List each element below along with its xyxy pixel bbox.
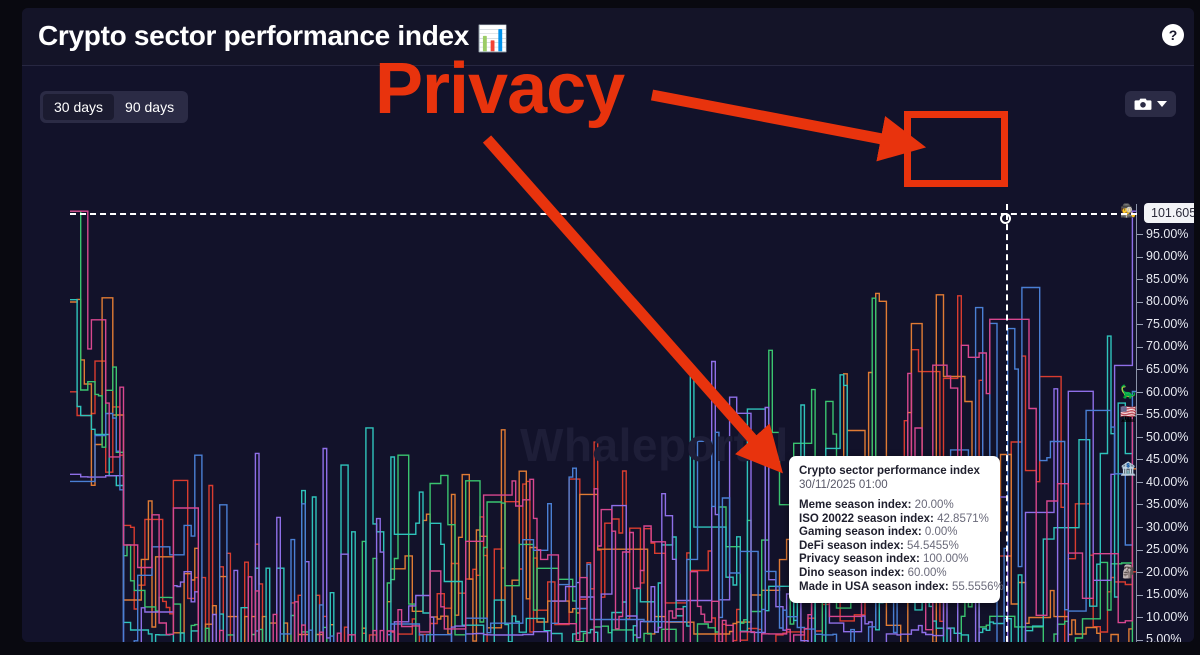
y-axis-tick-mark <box>1137 369 1143 370</box>
y-axis-tick-mark <box>1137 459 1143 460</box>
y-axis-tick-text: 60.00% <box>1146 385 1188 399</box>
tooltip-row-value: 0.00% <box>922 526 958 538</box>
tooltip-row-label: DeFi season index: <box>799 540 904 552</box>
range-toggle-group: 30 days 90 days <box>40 91 188 123</box>
y-axis-tick-text: 75.00% <box>1146 317 1188 331</box>
series-end-marker: 🗿 <box>1120 565 1136 578</box>
y-axis-tick-text: 40.00% <box>1146 475 1188 489</box>
y-axis-tick-mark <box>1137 527 1143 528</box>
series-end-marker: 🇺🇸 <box>1120 405 1136 418</box>
y-axis-tick-text: 50.00% <box>1146 430 1188 444</box>
tooltip-row-label: Dino season index: <box>799 567 904 579</box>
tooltip-row-label: ISO 20022 season index: <box>799 513 934 525</box>
chart-body: 30 days 90 days Whaleportal <box>22 66 1194 642</box>
y-axis-tick-text: 70.00% <box>1146 339 1188 353</box>
y-axis-tick-mark <box>1137 437 1143 438</box>
y-axis-tick-label: 90.00% <box>1137 250 1188 262</box>
tooltip-row: Made in USA season index: 55.5556% <box>799 581 990 595</box>
screenshot-root: Crypto sector performance index📊 ? 30 da… <box>0 0 1200 655</box>
tooltip-row-value: 20.00% <box>911 499 953 511</box>
y-axis-tick-label: 65.00% <box>1137 363 1188 375</box>
tooltip-row-value: 42.8571% <box>934 513 989 525</box>
y-axis-tick-label: 95.00% <box>1137 228 1188 240</box>
y-axis-tick-text: 55.00% <box>1146 407 1188 421</box>
y-axis-tick-mark <box>1137 234 1143 235</box>
tooltip-row-value: 55.5556% <box>949 581 1004 593</box>
y-axis-tick-text: 90.00% <box>1146 249 1188 263</box>
series-end-marker: 🦕 <box>1120 385 1136 398</box>
y-axis-tick-mark <box>1137 482 1143 483</box>
y-axis-tick-label: 35.00% <box>1137 498 1188 510</box>
tooltip-date: 30/11/2025 01:00 <box>799 478 990 492</box>
annotation-highlight-box <box>904 111 1008 187</box>
series-end-marker: 🕵 <box>1120 204 1136 217</box>
y-axis-tick-text: 25.00% <box>1146 542 1188 556</box>
tooltip-rows: Meme season index: 20.00%ISO 20022 seaso… <box>799 499 990 594</box>
y-axis-tick-mark <box>1137 595 1143 596</box>
y-axis-tick-label: 80.00% <box>1137 295 1188 307</box>
y-axis-tick-label: 20.00% <box>1137 566 1188 578</box>
tooltip-row: Meme season index: 20.00% <box>799 499 990 513</box>
y-axis-tick-mark <box>1137 257 1143 258</box>
tooltip-row-label: Meme season index: <box>799 499 911 511</box>
export-menu-button[interactable] <box>1125 91 1176 117</box>
y-axis-tick-text: 95.00% <box>1146 227 1188 241</box>
tooltip-row: Gaming season index: 0.00% <box>799 526 990 540</box>
y-axis-tick-label: 50.00% <box>1137 431 1188 443</box>
tooltip-row-label: Made in USA season index: <box>799 581 949 593</box>
tooltip-row: Dino season index: 60.00% <box>799 567 990 581</box>
y-axis-tick-text: 10.00% <box>1146 610 1188 624</box>
range-button-30-days[interactable]: 30 days <box>43 94 114 120</box>
y-axis-tick-label: 70.00% <box>1137 340 1188 352</box>
y-axis-tick-mark <box>1137 617 1143 618</box>
y-axis-tick-text: 20.00% <box>1146 565 1188 579</box>
y-axis-tick-mark <box>1137 302 1143 303</box>
y-axis-tick-text: 85.00% <box>1146 272 1188 286</box>
y-axis-tick-label: 25.00% <box>1137 543 1188 555</box>
y-axis-tick-label: 75.00% <box>1137 318 1188 330</box>
y-axis-tick-text: 80.00% <box>1146 294 1188 308</box>
tooltip-row: ISO 20022 season index: 42.8571% <box>799 513 990 527</box>
y-axis-tick-mark <box>1137 347 1143 348</box>
y-axis-tick-text: 5.00% <box>1146 632 1181 642</box>
page-title-text: Crypto sector performance index <box>38 20 469 51</box>
y-axis-tick-mark <box>1137 324 1143 325</box>
crosshair-horizontal-line <box>70 213 1137 215</box>
y-axis-tick-mark <box>1137 279 1143 280</box>
crosshair-vertical-line[interactable] <box>1006 204 1008 642</box>
y-axis-tick-mark <box>1137 572 1143 573</box>
y-axis-tick-mark <box>1137 550 1143 551</box>
help-icon[interactable]: ? <box>1162 24 1184 46</box>
crosshair-point-marker <box>1000 213 1011 224</box>
chevron-down-icon <box>1157 101 1167 107</box>
y-axis-tick-text: 35.00% <box>1146 497 1188 511</box>
y-axis-tick-label: 5.00% <box>1137 633 1181 642</box>
y-axis-tick-mark <box>1137 504 1143 505</box>
tooltip-row-value: 100.00% <box>920 553 969 565</box>
range-button-90-days[interactable]: 90 days <box>114 94 185 120</box>
tooltip-row-value: 54.5455% <box>904 540 959 552</box>
y-axis-tick-label: 10.00% <box>1137 611 1188 623</box>
y-axis-tick-mark <box>1137 392 1143 393</box>
tooltip-row-label: Privacy season index: <box>799 553 920 565</box>
tooltip-row: DeFi season index: 54.5455% <box>799 540 990 554</box>
y-axis-tick-mark <box>1137 640 1143 641</box>
camera-icon <box>1134 97 1152 111</box>
y-axis-tick-text: 30.00% <box>1146 520 1188 534</box>
tooltip-title: Crypto sector performance index <box>799 464 990 478</box>
y-axis-tick-mark <box>1137 414 1143 415</box>
y-axis-tick-label: 60.00% <box>1137 386 1188 398</box>
y-axis-tick-label: 45.00% <box>1137 453 1188 465</box>
series-end-marker: 🏦 <box>1120 462 1136 475</box>
tooltip-row-value: 60.00% <box>904 567 946 579</box>
y-axis-tick-label: 40.00% <box>1137 476 1188 488</box>
tooltip-row: Privacy season index: 100.00% <box>799 553 990 567</box>
annotation-label: Privacy <box>375 50 624 128</box>
tooltip-row-label: Gaming season index: <box>799 526 922 538</box>
y-axis-tick-text: 45.00% <box>1146 452 1188 466</box>
y-axis-tick-label: 30.00% <box>1137 521 1188 533</box>
y-axis-tick-label: 15.00% <box>1137 588 1188 600</box>
y-axis-tick-label: 55.00% <box>1137 408 1188 420</box>
y-axis-tick-text: 65.00% <box>1146 362 1188 376</box>
y-axis-tick-label: 85.00% <box>1137 273 1188 285</box>
y-axis-tick-text: 15.00% <box>1146 587 1188 601</box>
chart-tooltip: Crypto sector performance index 30/11/20… <box>789 456 1000 603</box>
crosshair-axis-value: 101.605% <box>1144 203 1194 223</box>
